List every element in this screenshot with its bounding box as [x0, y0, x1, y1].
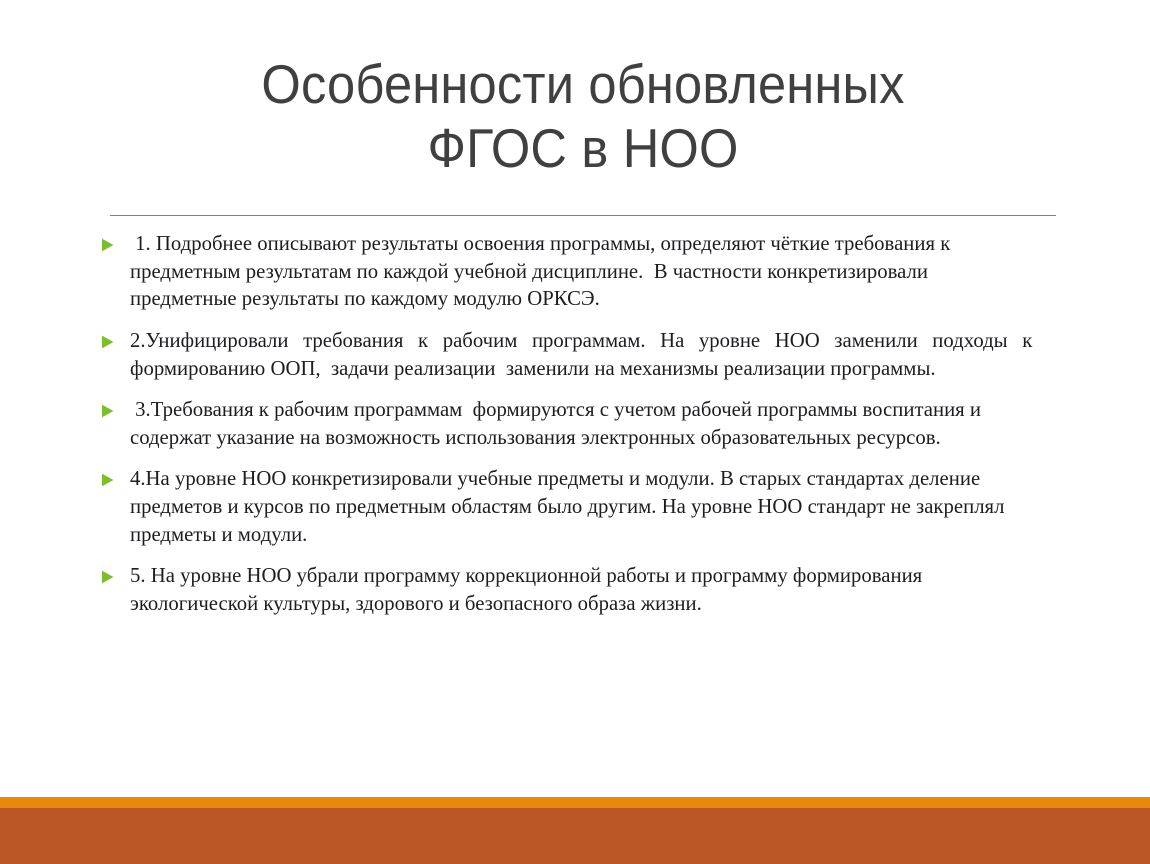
list-item-text: 4.На уровне НОО конкретизировали учебные… [130, 465, 1032, 548]
slide-canvas: Особенности обновленных ФГОС в НОО 1. По… [0, 0, 1150, 864]
triangle-right-icon [100, 562, 130, 585]
list-item-text: 2.Унифицировали требования к рабочим про… [130, 327, 1032, 382]
triangle-right-icon [100, 396, 130, 419]
footer-band-rust [0, 808, 1150, 864]
triangle-right-icon [100, 230, 130, 253]
slide-title-text: Особенности обновленных ФГОС в НОО [148, 52, 1018, 181]
triangle-right-icon [100, 465, 130, 488]
footer-band-orange [0, 797, 1150, 808]
triangle-right-icon [100, 327, 130, 350]
list-item: 2.Унифицировали требования к рабочим про… [100, 327, 1065, 382]
list-item-text: 1. Подробнее описывают результаты освоен… [130, 230, 1032, 313]
list-item-text: 3.Требования к рабочим программам формир… [130, 396, 1032, 451]
title-divider [110, 215, 1056, 216]
bullet-list: 1. Подробнее описывают результаты освоен… [100, 230, 1065, 618]
list-item: 5. На уровне НОО убрали программу коррек… [100, 562, 1065, 617]
list-item: 4.На уровне НОО конкретизировали учебные… [100, 465, 1065, 548]
list-item: 3.Требования к рабочим программам формир… [100, 396, 1065, 451]
list-item-text: 5. На уровне НОО убрали программу коррек… [130, 562, 1032, 617]
slide-title: Особенности обновленных ФГОС в НОО [110, 52, 1056, 181]
list-item: 1. Подробнее описывают результаты освоен… [100, 230, 1065, 313]
